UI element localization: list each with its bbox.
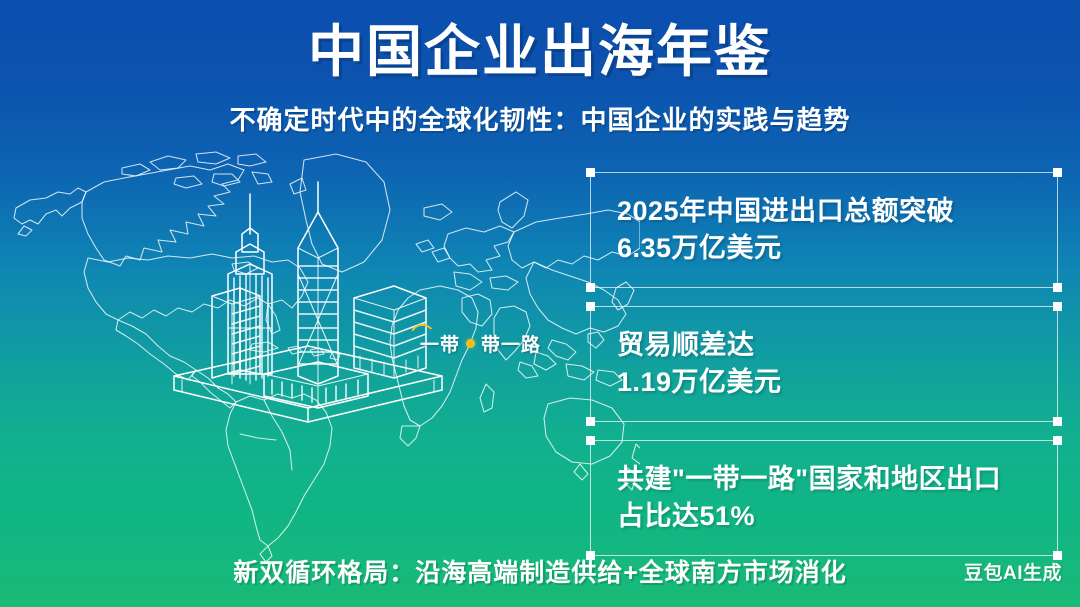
stat-line-2: 6.35万亿美元 bbox=[617, 230, 1035, 267]
resize-handle-top-left[interactable] bbox=[586, 436, 595, 445]
belt-road-dot-icon bbox=[466, 339, 475, 348]
belt-road-annotation: 一带 带一路 bbox=[420, 330, 541, 357]
stat-box-list: 2025年中国进出口总额突破 6.35万亿美元 贸易顺差达 1.19万亿美元 共… bbox=[590, 172, 1058, 556]
stat-line-1: 共建"一带一路"国家和地区出口 bbox=[617, 461, 1035, 498]
stat-line-1: 2025年中国进出口总额突破 bbox=[617, 193, 1035, 230]
stat-line-2: 1.19万亿美元 bbox=[617, 364, 1035, 401]
world-map-illustration bbox=[0, 148, 640, 568]
resize-handle-top-right[interactable] bbox=[1053, 302, 1062, 311]
resize-handle-top-left[interactable] bbox=[586, 302, 595, 311]
city-skyline-illustration bbox=[168, 178, 448, 428]
page-title: 中国企业出海年鉴 bbox=[0, 20, 1080, 85]
stat-box-belt-road-share[interactable]: 共建"一带一路"国家和地区出口 占比达51% bbox=[590, 440, 1058, 556]
resize-handle-top-left[interactable] bbox=[586, 168, 595, 177]
stat-line-2: 占比达51% bbox=[617, 498, 1035, 535]
page-subtitle: 不确定时代中的全球化韧性：中国企业的实践与趋势 bbox=[0, 100, 1080, 137]
resize-handle-top-right[interactable] bbox=[1053, 168, 1062, 177]
footer-caption: 新双循环格局：沿海高端制造供给+全球南方市场消化 bbox=[0, 553, 1080, 589]
stat-box-trade-surplus[interactable]: 贸易顺差达 1.19万亿美元 bbox=[590, 306, 1058, 422]
resize-handle-top-right[interactable] bbox=[1053, 436, 1062, 445]
stat-box-trade-total[interactable]: 2025年中国进出口总额突破 6.35万亿美元 bbox=[590, 172, 1058, 288]
poster-canvas: 中国企业出海年鉴 不确定时代中的全球化韧性：中国企业的实践与趋势 一带 带一路 … bbox=[0, 0, 1080, 607]
stat-line-1: 贸易顺差达 bbox=[617, 327, 1035, 364]
belt-road-label-right: 带一路 bbox=[481, 330, 541, 357]
resize-handle-bottom-left[interactable] bbox=[586, 283, 595, 292]
resize-handle-bottom-right[interactable] bbox=[1053, 417, 1062, 426]
resize-handle-bottom-right[interactable] bbox=[1053, 283, 1062, 292]
resize-handle-bottom-left[interactable] bbox=[586, 417, 595, 426]
belt-road-label-left: 一带 bbox=[420, 330, 460, 357]
ai-watermark: 豆包AI生成 bbox=[964, 558, 1062, 585]
